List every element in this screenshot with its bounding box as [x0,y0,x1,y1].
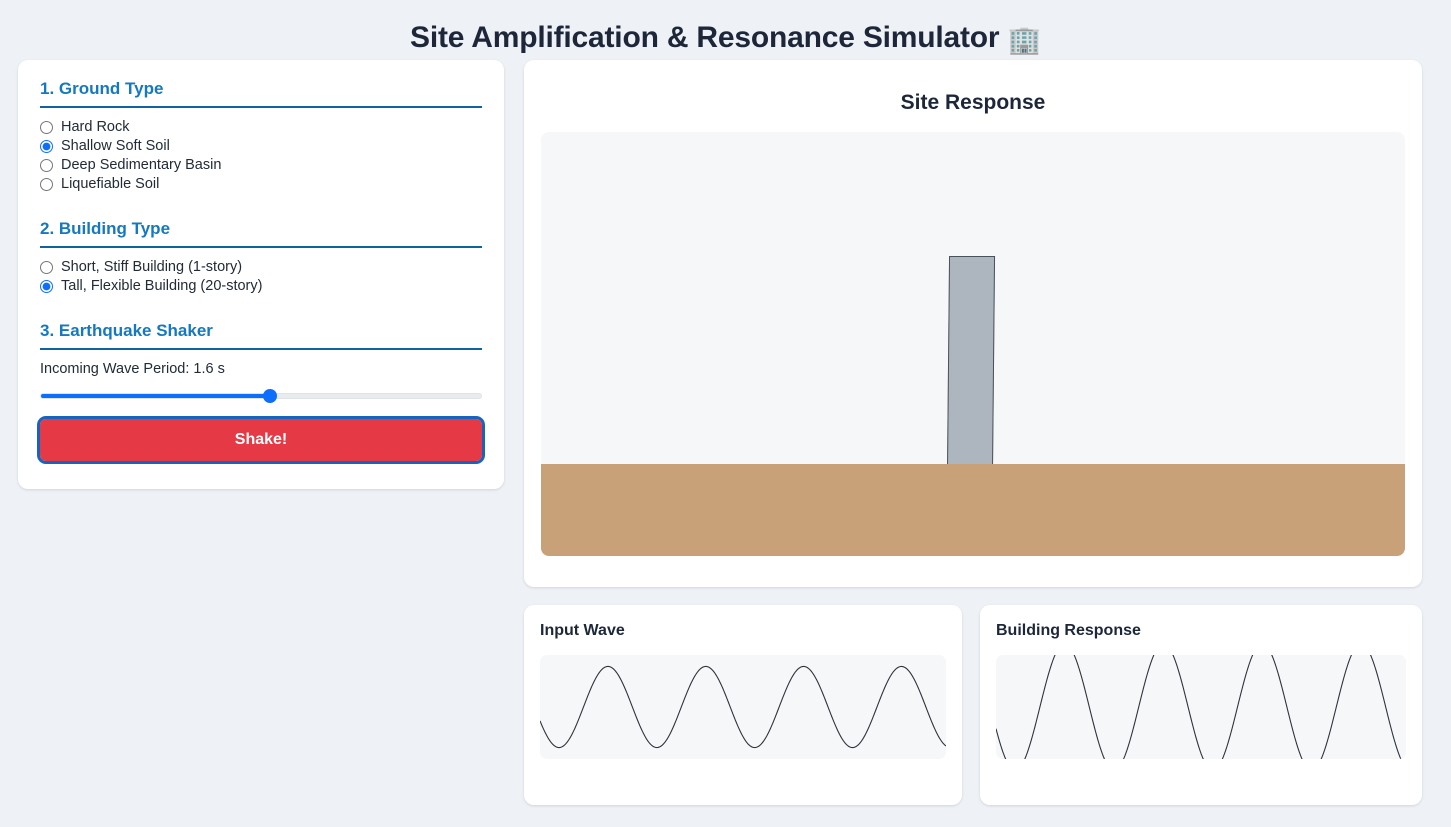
ground-radio-liquefiable-soil[interactable] [40,178,53,191]
wave-period-slider[interactable] [40,393,482,399]
ground-label-hard-rock[interactable]: Hard Rock [61,118,130,137]
building-shape [947,256,995,470]
building-response-svg [996,655,1406,759]
input-wave-panel: Input Wave [524,605,962,805]
input-wave-svg [540,655,946,759]
ground-option-liquefiable-soil[interactable]: Liquefiable Soil [40,175,482,194]
site-response-panel: Site Response [524,60,1422,587]
page-title: Site Amplification & Resonance Simulator… [0,0,1451,60]
ground-radio-shallow-soft-soil[interactable] [40,140,53,153]
ground-label-shallow-soft-soil[interactable]: Shallow Soft Soil [61,137,170,156]
page-title-text: Site Amplification & Resonance Simulator [410,21,999,54]
ground-option-shallow-soft-soil[interactable]: Shallow Soft Soil [40,137,482,156]
ground-option-deep-sedimentary-basin[interactable]: Deep Sedimentary Basin [40,156,482,175]
ground-label-liquefiable-soil[interactable]: Liquefiable Soil [61,175,159,194]
main-layout: 1. Ground Type Hard Rock Shallow Soft So… [0,60,1451,820]
ground-radio-hard-rock[interactable] [40,121,53,134]
building-option-tall-flexible[interactable]: Tall, Flexible Building (20-story) [40,277,482,296]
building-label-short-stiff[interactable]: Short, Stiff Building (1-story) [61,258,242,277]
building-type-radio-group[interactable]: Short, Stiff Building (1-story) Tall, Fl… [40,258,482,296]
building-radio-short-stiff[interactable] [40,261,53,274]
building-response-plot [996,655,1406,759]
building-option-short-stiff[interactable]: Short, Stiff Building (1-story) [40,258,482,277]
building-label-tall-flexible[interactable]: Tall, Flexible Building (20-story) [61,277,262,296]
site-response-title: Site Response [540,90,1406,116]
building-response-panel: Building Response [980,605,1422,805]
building-response-line [996,655,1406,759]
ground-label-deep-sedimentary-basin[interactable]: Deep Sedimentary Basin [61,156,221,175]
office-building-icon: 🏢 [1008,25,1041,55]
wave-period-slider-wrap [40,386,482,402]
input-wave-line [540,666,946,747]
ground-layer [541,464,1405,556]
ground-type-heading: 1. Ground Type [40,78,482,108]
building-type-heading: 2. Building Type [40,218,482,248]
ground-type-radio-group[interactable]: Hard Rock Shallow Soft Soil Deep Sedimen… [40,118,482,194]
earthquake-shaker-heading: 3. Earthquake Shaker [40,320,482,350]
building-radio-tall-flexible[interactable] [40,280,53,293]
shake-button[interactable]: Shake! [40,419,482,461]
input-wave-title: Input Wave [540,621,946,641]
wave-period-label: Incoming Wave Period: 1.6 s [40,360,482,378]
input-wave-plot [540,655,946,759]
ground-option-hard-rock[interactable]: Hard Rock [40,118,482,137]
controls-panel: 1. Ground Type Hard Rock Shallow Soft So… [18,60,504,489]
simulation-stage [541,132,1405,556]
ground-radio-deep-sedimentary-basin[interactable] [40,159,53,172]
building-response-title: Building Response [996,621,1406,641]
